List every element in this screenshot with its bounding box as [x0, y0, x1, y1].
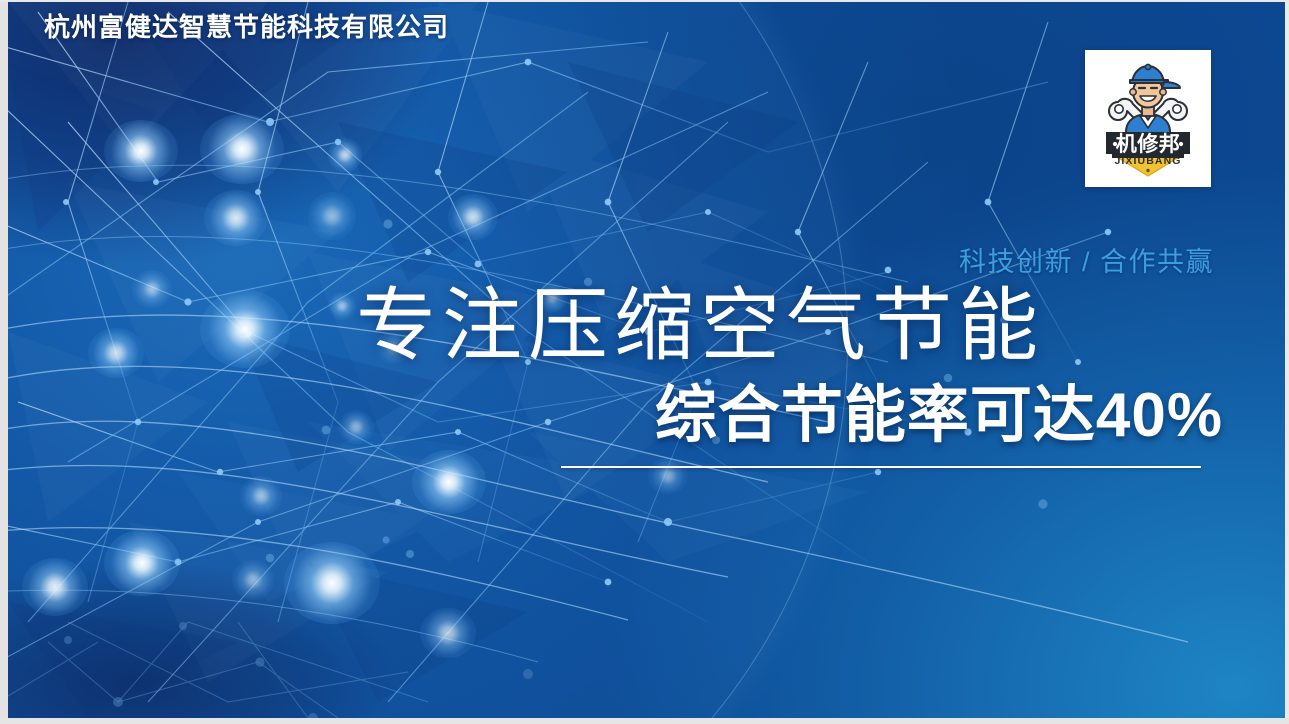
headline: 专注压缩空气节能 [356, 283, 1044, 371]
banner-slide: 杭州富健达智慧节能科技有限公司 [8, 2, 1285, 718]
frame-edge-right [1285, 0, 1289, 724]
jixiubang-logo-icon: JIXIUBANG 机修邦 [1092, 58, 1204, 180]
frame-edge-left [0, 0, 8, 724]
frame-edge-top [0, 0, 1289, 2]
logo-name-plate: 机修邦 [1106, 132, 1190, 158]
brand-logo[interactable]: JIXIUBANG 机修邦 [1085, 50, 1211, 187]
marketing-banner: 杭州富健达智慧节能科技有限公司 [0, 0, 1289, 724]
company-name: 杭州富健达智慧节能科技有限公司 [44, 10, 449, 44]
frame-edge-bottom [0, 718, 1289, 724]
divider-line [561, 466, 1201, 468]
tagline: 科技创新 / 合作共赢 [959, 245, 1214, 279]
subheadline: 综合节能率可达40% [655, 380, 1223, 452]
logo-name-cn: 机修邦 [1116, 132, 1181, 156]
